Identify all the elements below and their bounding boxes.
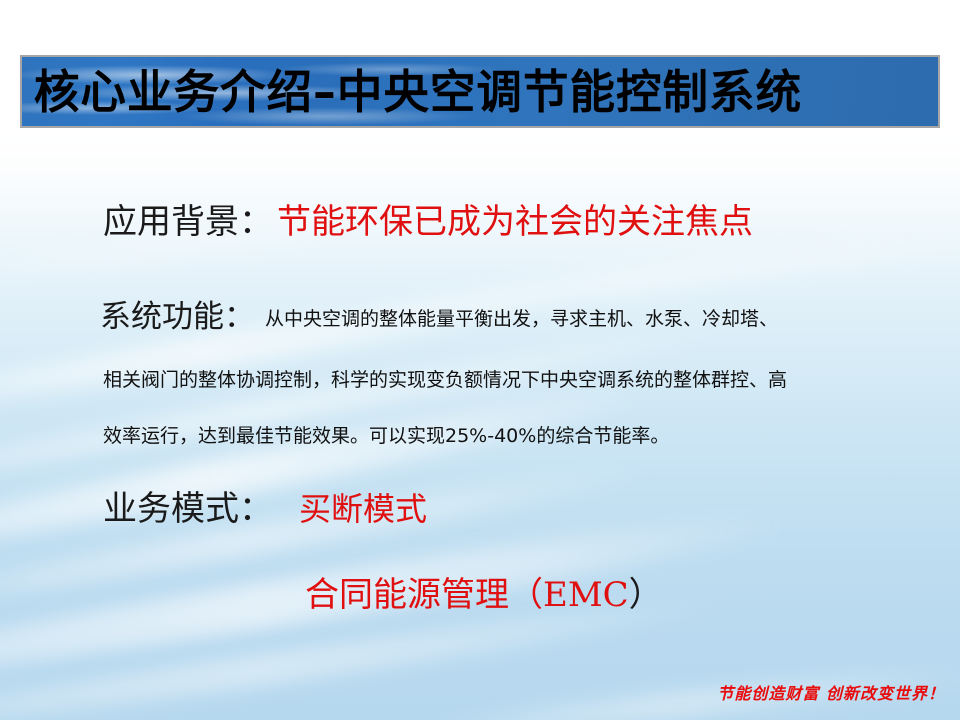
system-function-row: 系统功能： 从中央空调的整体能量平衡出发，寻求主机、水泵、冷却塔、 (100, 302, 778, 333)
slide-canvas: 核心业务介绍–中央空调节能控制系统 应用背景： 节能环保已成为社会的关注焦点 系… (0, 0, 960, 720)
slide-title: 核心业务介绍–中央空调节能控制系统 (22, 69, 802, 115)
footer-slogan: 节能创造财富 创新改变世界！ (717, 686, 945, 702)
application-background-row: 应用背景： 节能环保已成为社会的关注焦点 (103, 205, 753, 239)
slide-title-banner: 核心业务介绍–中央空调节能控制系统 (20, 55, 940, 128)
system-function-label: 系统功能： (100, 302, 255, 333)
business-mode-option-emc: 合同能源管理（EMC） (305, 578, 663, 612)
system-function-line: 效率运行，达到最佳节能效果。可以实现25%-40%的综合节能率。 (103, 427, 669, 446)
application-background-value: 节能环保已成为社会的关注焦点 (277, 205, 753, 239)
business-mode-option-buyout: 买断模式 (299, 493, 427, 525)
business-mode-label: 业务模式： (103, 492, 273, 526)
application-background-label: 应用背景： (103, 205, 273, 239)
business-mode-option-emc-paren: ） (629, 575, 663, 615)
system-function-line: 相关阀门的整体协调控制，科学的实现变负额情况下中央空调系统的整体群控、高 (103, 371, 787, 390)
business-mode-row: 业务模式： 买断模式 (103, 492, 427, 526)
system-function-line: 从中央空调的整体能量平衡出发，寻求主机、水泵、冷却塔、 (265, 310, 778, 329)
business-mode-option-emc-text: 合同能源管理（EMC (305, 575, 629, 615)
